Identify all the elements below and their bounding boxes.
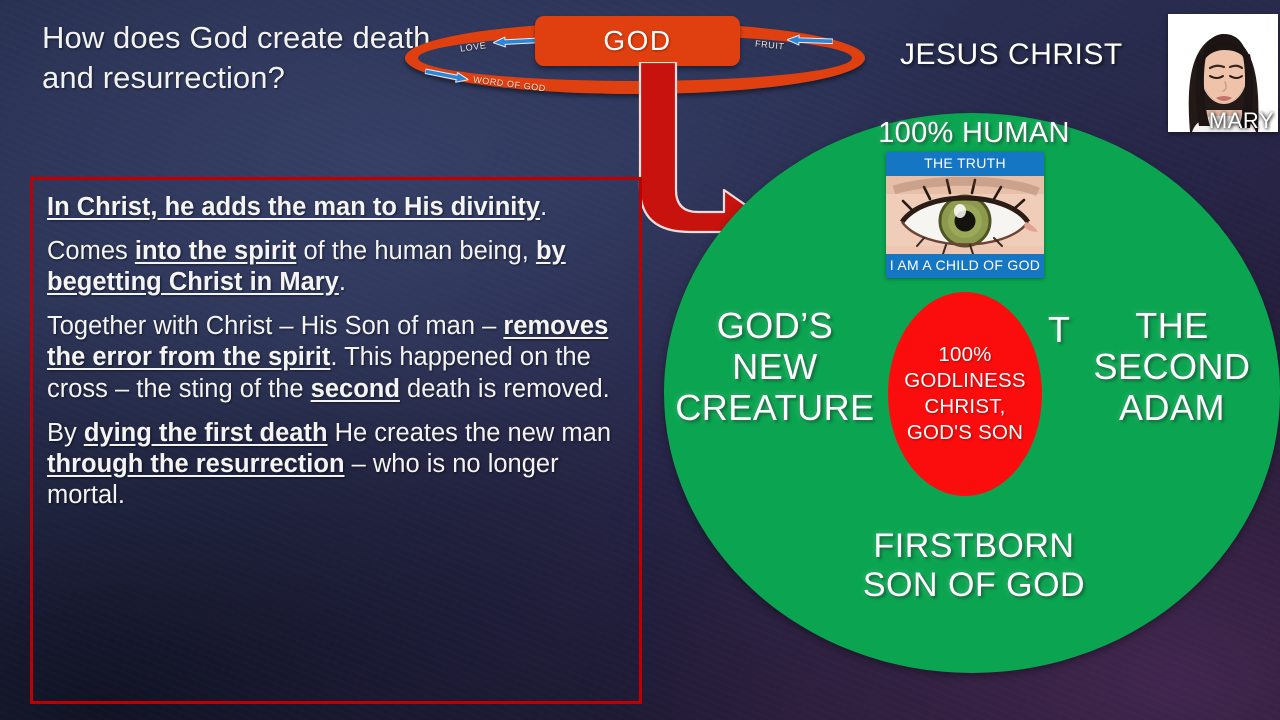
textbox-paragraph: In Christ, he adds the man to His divini… <box>47 192 623 223</box>
eye-image <box>886 176 1044 255</box>
textbox-paragraph: By dying the first death He creates the … <box>47 418 623 511</box>
page-title: How does God create death and resurrecti… <box>42 18 462 97</box>
label-firstborn-son-of-god: FIRSTBORNSON OF GOD <box>784 527 1164 605</box>
red-inner-ellipse: 100%GODLINESSCHRIST,GOD'S SON <box>888 292 1042 496</box>
mary-photo-card: MARY <box>1168 14 1278 132</box>
god-box: GOD <box>535 16 740 66</box>
red-ellipse-text: 100%GODLINESSCHRIST,GOD'S SON <box>904 342 1025 445</box>
truth-eye-card: THE TRUTH <box>886 152 1044 278</box>
god-box-label: GOD <box>603 25 671 57</box>
explanation-textbox: In Christ, he adds the man to His divini… <box>30 177 642 704</box>
fruit-arrow-icon <box>787 34 833 45</box>
textbox-paragraph: Comes into the spirit of the human being… <box>47 236 623 298</box>
eye-card-top-bar: THE TRUTH <box>886 152 1044 176</box>
green-circle: 100% HUMAN THE TRUTH <box>664 113 1280 673</box>
jesus-christ-title: JESUS CHRIST <box>900 38 1123 72</box>
label-the-second-adam: THESECONDADAM <box>1064 305 1280 428</box>
love-arrow-icon <box>493 35 539 46</box>
label-gods-new-creature: GOD’SNEWCREATURE <box>670 305 880 428</box>
textbox-paragraph: Together with Christ – His Son of man – … <box>47 311 623 404</box>
mary-label: MARY <box>1209 108 1274 132</box>
eye-card-bottom-bar: I AM A CHILD OF GOD <box>886 254 1044 278</box>
label-100-percent-human: 100% HUMAN <box>844 117 1104 150</box>
